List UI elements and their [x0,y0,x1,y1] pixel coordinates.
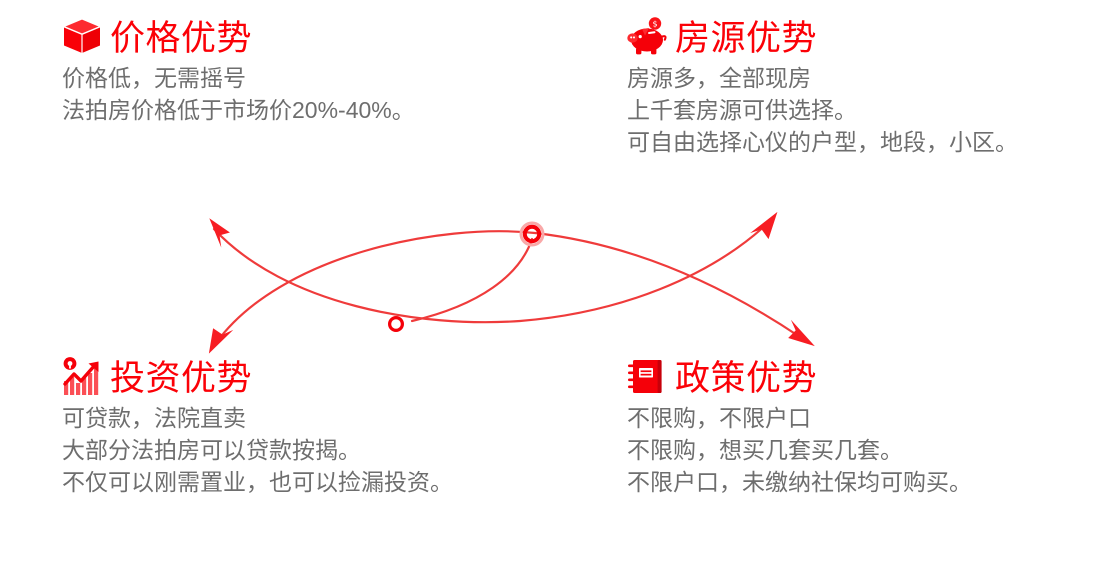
feature-lines-supply: 房源多，全部现房 上千套房源可供选择。 可自由选择心仪的户型，地段，小区。 [627,62,1018,158]
feature-title-invest: 投资优势 [110,360,252,398]
feature-title-policy: 政策优势 [675,360,817,398]
feature-header-supply: $ [625,12,1018,58]
page-canvas: 价格优势 价格低，无需摇号 法拍房价格低于市场价20%-40%。 $ [0,0,1099,564]
feature-title-supply: 房源优势 [675,20,817,58]
piggy-bank-icon: $ [625,14,669,58]
feature-header-invest: 投资优势 [60,352,453,398]
feature-lines-invest: 可贷款，法院直卖 大部分法拍房可以贷款按揭。 不仅可以刚需置业，也可以捡漏投资。 [62,402,453,498]
notebook-icon [625,354,669,398]
feature-lines-policy: 不限购，不限户口 不限购，想买几套买几套。 不限户口，未缴纳社保均可购买。 [627,402,972,498]
feature-line: 法拍房价格低于市场价20%-40%。 [62,94,415,126]
feature-line: 房源多，全部现房 [627,62,1018,94]
feature-block-supply: $ [625,12,1018,158]
swirl-node-large [521,223,543,245]
feature-line: 不限购，不限户口 [627,402,972,434]
swirl-node-small [390,318,403,331]
feature-line: 上千套房源可供选择。 [627,94,1018,126]
feature-header-policy: 政策优势 [625,352,972,398]
feature-line: 大部分法拍房可以贷款按揭。 [62,434,453,466]
svg-text:$: $ [652,20,657,29]
cube-box-icon [60,14,104,58]
feature-line: 不限户口，未缴纳社保均可购买。 [627,466,972,498]
feature-line: 可贷款，法院直卖 [62,402,453,434]
feature-line: 可自由选择心仪的户型，地段，小区。 [627,126,1018,158]
feature-block-price: 价格优势 价格低，无需摇号 法拍房价格低于市场价20%-40%。 [60,12,415,126]
feature-header-price: 价格优势 [60,12,415,58]
feature-line: 价格低，无需摇号 [62,62,415,94]
feature-lines-price: 价格低，无需摇号 法拍房价格低于市场价20%-40%。 [62,62,415,126]
crossing-arrows-swirl [190,185,830,360]
feature-block-invest: 投资优势 可贷款，法院直卖 大部分法拍房可以贷款按揭。 不仅可以刚需置业，也可以… [60,352,453,498]
arrowhead-group [206,209,814,353]
feature-block-policy: 政策优势 不限购，不限户口 不限购，想买几套买几套。 不限户口，未缴纳社保均可购… [625,352,972,498]
feature-line: 不限购，想买几套买几套。 [627,434,972,466]
growth-chart-icon [60,354,104,398]
feature-line: 不仅可以刚需置业，也可以捡漏投资。 [62,466,453,498]
feature-title-price: 价格优势 [110,20,252,58]
